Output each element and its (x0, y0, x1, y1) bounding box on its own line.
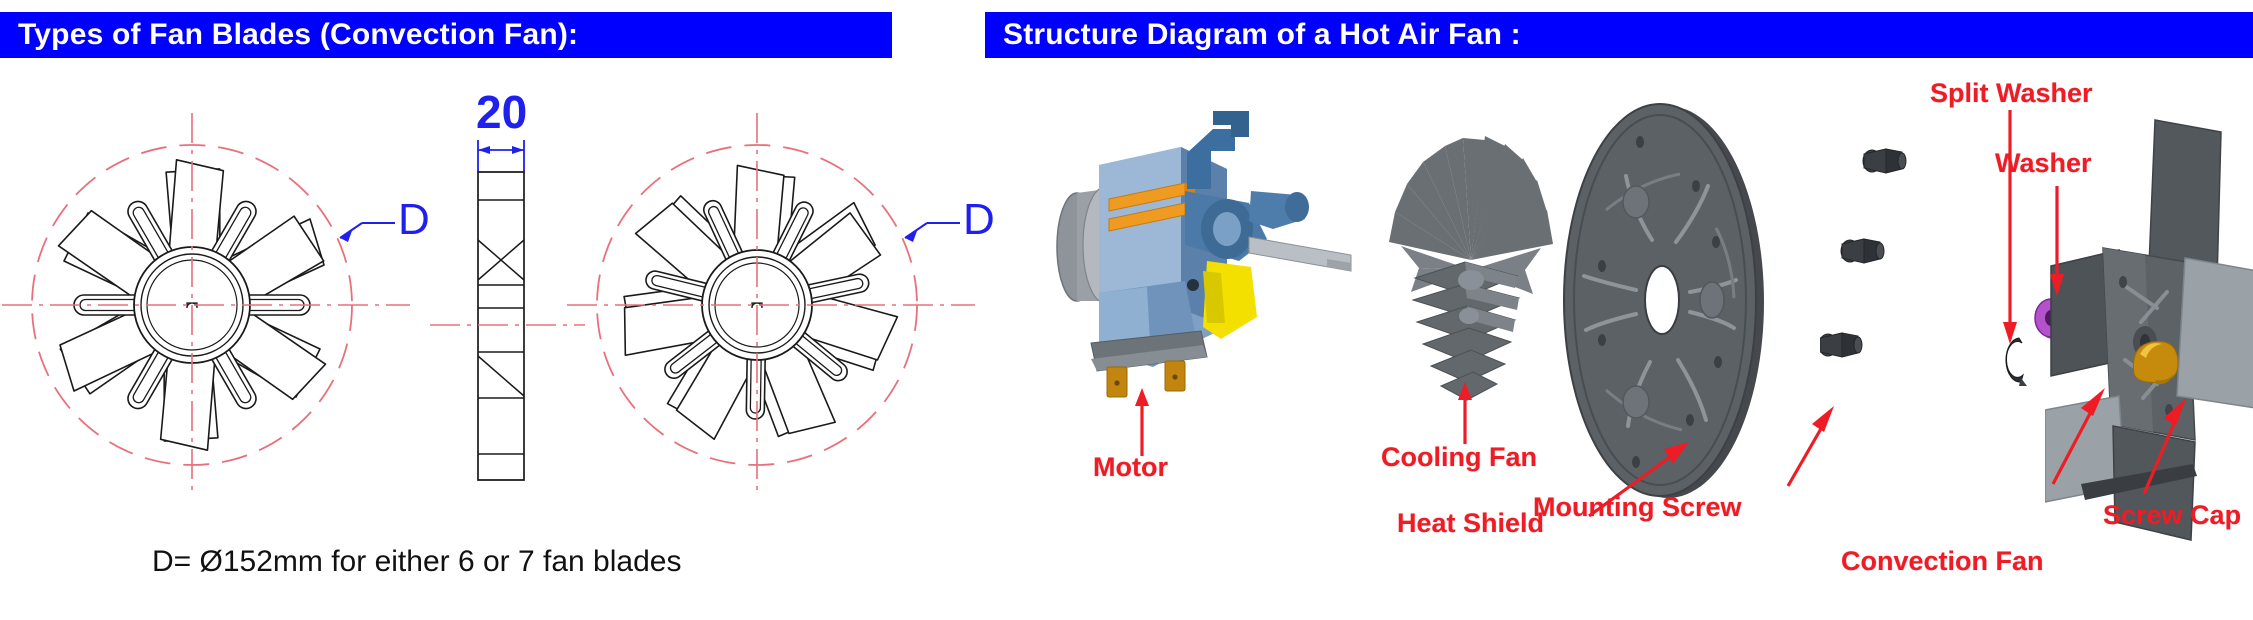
label-convection-fan: Convection Fan (1841, 546, 2044, 577)
left-panel: Types of Fan Blades (Convection Fan): (0, 0, 935, 620)
cooling-fan-leader-line (1455, 382, 1475, 446)
label-heat-shield: Heat Shield (1397, 508, 1544, 539)
motor-part (1035, 95, 1365, 430)
motor-leader-line (1132, 388, 1152, 458)
label-split-washer: Split Washer (1930, 78, 2093, 109)
fan-6-blade-drawing: D (10, 95, 430, 495)
right-panel: Structure Diagram of a Hot Air Fan : (985, 0, 2253, 620)
label-cooling-fan: Cooling Fan (1381, 442, 1537, 473)
split-washer-leader-line (2000, 110, 2020, 346)
fan-diameter-caption: D= Ø152mm for either 6 or 7 fan blades (152, 545, 681, 579)
label-motor: Motor (1093, 452, 1168, 483)
washer-leader-line (2047, 186, 2067, 298)
left-section-title: Types of Fan Blades (Convection Fan): (0, 12, 892, 58)
mounting-screw-leader-line (1780, 400, 1840, 490)
label-screw-cap: Screw Cap (2103, 500, 2241, 531)
thickness-dimension-label: 20 (476, 86, 527, 138)
mounting-screw-part (1820, 145, 1950, 410)
label-washer: Washer (1995, 148, 2092, 179)
fan-7-blade-drawing: D (575, 95, 995, 495)
right-section-title: Structure Diagram of a Hot Air Fan : (985, 12, 2253, 58)
label-mounting-screw: Mounting Screw (1533, 492, 1742, 523)
screw-cap-leader-line (2140, 390, 2200, 500)
convection-fan-leader-line (2045, 380, 2115, 490)
